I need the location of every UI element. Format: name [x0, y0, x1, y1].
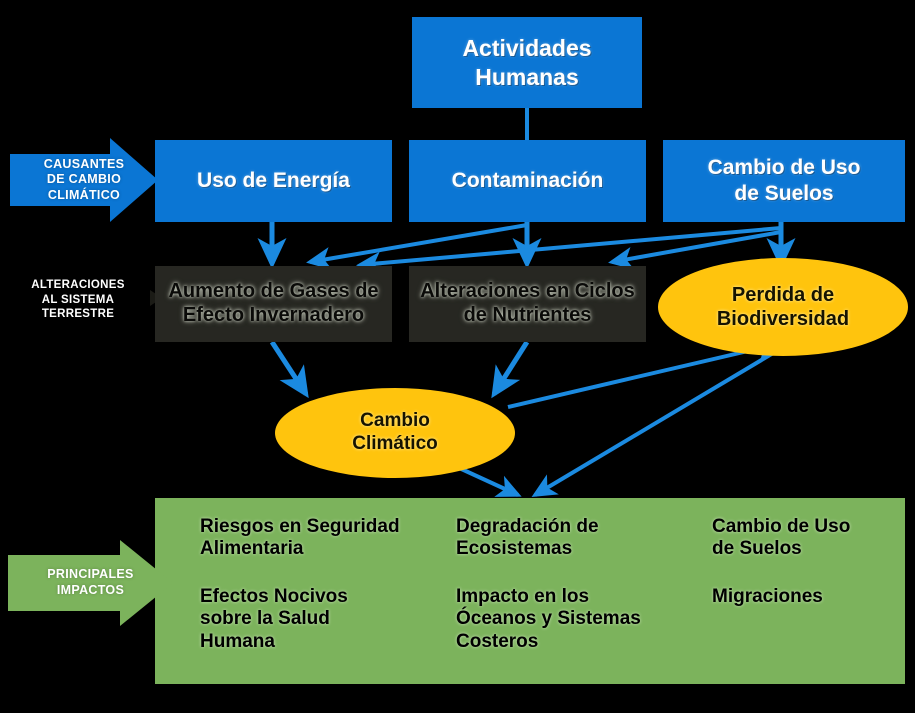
node-cambio-climatico[interactable]: CambioClimático [275, 388, 515, 478]
arrow-gases-cambio-climatico [272, 342, 306, 394]
node-aumento-gases[interactable]: Aumento de Gases deEfecto Invernadero [155, 266, 392, 342]
row-label-alteraciones: ALTERACIONESAL SISTEMATERRESTRE [8, 268, 148, 332]
arrow-nutrientes-cambio-climatico [494, 342, 527, 394]
node-alteraciones-ciclos[interactable]: Alteraciones en Ciclosde Nutrientes [409, 266, 646, 342]
node-label: Perdida deBiodiversidad [717, 283, 849, 331]
node-cambio-uso-suelos[interactable]: Cambio de Usode Suelos [663, 140, 905, 222]
row-label-text: CAUSANTESDE CAMBIOCLIMÁTICO [44, 157, 124, 204]
node-label: Alteraciones en Ciclosde Nutrientes [420, 280, 635, 327]
impact-item[interactable]: Riesgos en SeguridadAlimentaria [200, 516, 450, 561]
node-uso-de-energia[interactable]: Uso de Energía [155, 140, 392, 222]
diagram-canvas: ActividadesHumanas CAUSANTESDE CAMBIOCLI… [0, 0, 915, 713]
arrow-biodiversidad-impactos [535, 346, 785, 495]
node-perdida-biodiversidad[interactable]: Perdida deBiodiversidad [658, 258, 908, 356]
arrow-contaminacion-gases-diagonal [310, 225, 527, 262]
impact-item[interactable]: Degradación deEcosistemas [456, 516, 706, 561]
node-label: CambioClimático [352, 410, 438, 456]
row-label-impactos: PRINCIPALESIMPACTOS [8, 539, 173, 627]
node-contaminacion[interactable]: Contaminación [409, 140, 646, 222]
node-label: Aumento de Gases deEfecto Invernadero [168, 280, 378, 327]
node-actividades-humanas[interactable]: ActividadesHumanas [412, 17, 642, 108]
impact-item[interactable]: Efectos Nocivossobre la SaludHumana [200, 586, 450, 653]
impact-item[interactable]: Impacto en losÓceanos y SistemasCosteros [456, 586, 706, 653]
arrow-suelos-nutrientes-diagonal [612, 232, 781, 262]
arrow-cambio-climatico-biodiversidad [508, 344, 778, 407]
row-label-text: ALTERACIONESAL SISTEMATERRESTRE [31, 278, 124, 321]
row-label-text: PRINCIPALESIMPACTOS [47, 567, 133, 598]
node-label: Contaminación [452, 168, 604, 194]
impact-item[interactable]: Cambio de Usode Suelos [712, 516, 912, 561]
row-label-causantes: CAUSANTESDE CAMBIOCLIMÁTICO [10, 136, 158, 224]
node-label: Uso de Energía [197, 168, 350, 194]
impact-item[interactable]: Migraciones [712, 586, 912, 608]
node-label: Cambio de Usode Suelos [708, 155, 861, 206]
node-label: ActividadesHumanas [462, 34, 591, 90]
arrow-suelos-gases-diagonal [360, 228, 781, 265]
